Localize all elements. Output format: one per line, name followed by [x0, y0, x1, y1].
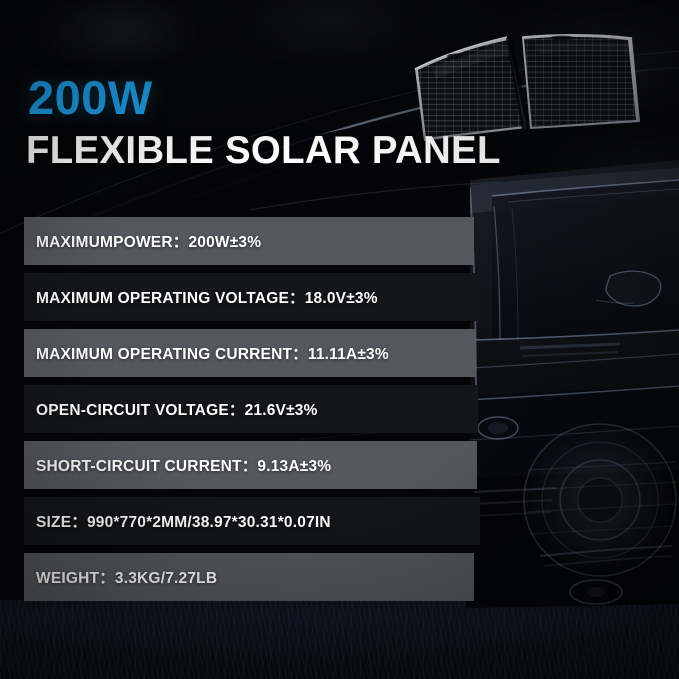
spec-text: OPEN-CIRCUIT VOLTAGE：21.6V±3%	[36, 398, 318, 420]
page-title: FLEXIBLE SOLAR PANEL	[26, 131, 501, 170]
spec-text: MAXIMUM OPERATING CURRENT：11.11A±3%	[36, 342, 389, 364]
wattage-headline: 200W	[28, 74, 153, 121]
spec-row-maximum-operating-current: MAXIMUM OPERATING CURRENT：11.11A±3%	[24, 329, 476, 377]
spec-text: SIZE：990*770*2MM/38.97*30.31*0.07IN	[36, 510, 331, 532]
solar-panel-product-photo	[412, 34, 652, 142]
spec-row-maximum-operating-voltage: MAXIMUM OPERATING VOLTAGE：18.0V±3%	[24, 273, 480, 321]
spec-text: SHORT-CIRCUIT CURRENT：9.13A±3%	[36, 454, 331, 476]
spec-text: MAXIMUMPOWER：200W±3%	[36, 230, 261, 252]
specifications-list: MAXIMUMPOWER：200W±3% MAXIMUM OPERATING V…	[24, 217, 480, 601]
spec-row-maximum-power: MAXIMUMPOWER：200W±3%	[24, 217, 474, 265]
spec-row-open-circuit-voltage: OPEN-CIRCUIT VOLTAGE：21.6V±3%	[24, 385, 478, 433]
product-marketing-image: 200W FLEXIBLE SOLAR PANEL MAXIMUMPOWER：2…	[0, 0, 679, 679]
spec-text: WEIGHT：3.3KG/7.27LB	[36, 566, 217, 588]
spec-row-weight: WEIGHT：3.3KG/7.27LB	[24, 553, 474, 601]
spec-row-short-circuit-current: SHORT-CIRCUIT CURRENT：9.13A±3%	[24, 441, 477, 489]
spec-text: MAXIMUM OPERATING VOLTAGE：18.0V±3%	[36, 286, 378, 308]
spec-row-size: SIZE：990*770*2MM/38.97*30.31*0.07IN	[24, 497, 480, 545]
